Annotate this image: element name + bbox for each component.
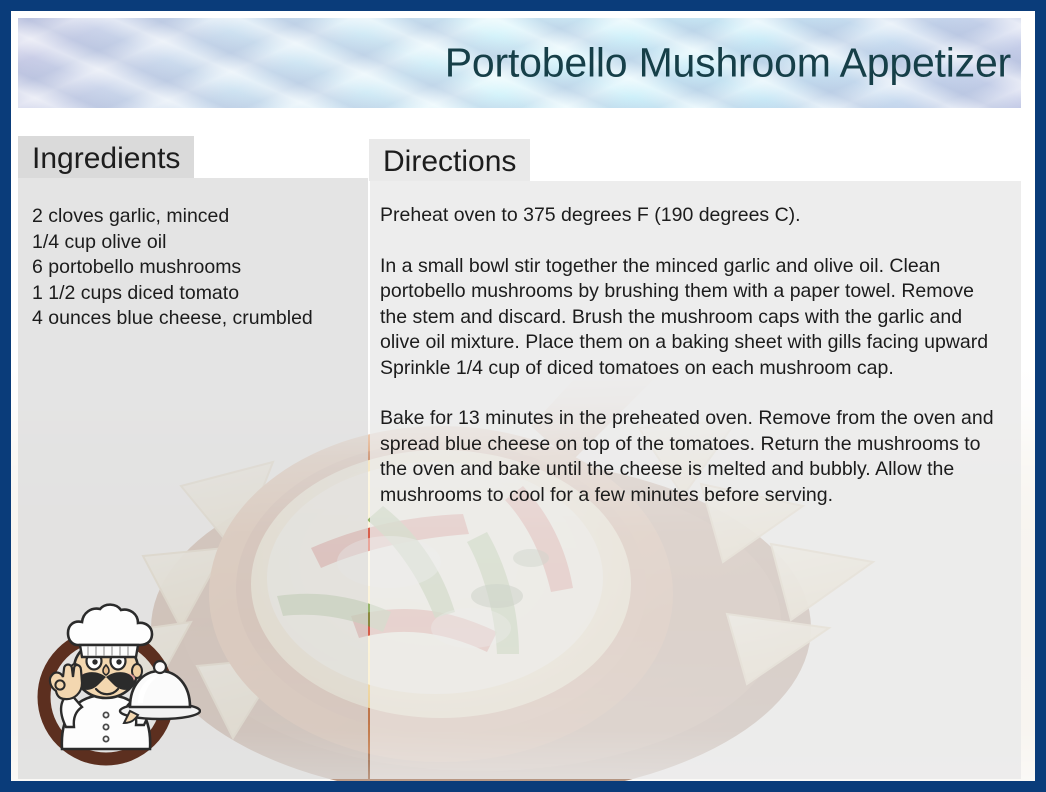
list-item: 1 1/2 cups diced tomato bbox=[32, 281, 354, 307]
direction-step: Bake for 13 minutes in the preheated ove… bbox=[380, 406, 1003, 508]
direction-step: In a small bowl stir together the minced… bbox=[380, 254, 1003, 382]
tab-ingredients[interactable]: Ingredients bbox=[18, 136, 194, 178]
title-banner: Portobello Mushroom Appetizer bbox=[18, 18, 1021, 108]
list-item: 4 ounces blue cheese, crumbled bbox=[32, 306, 354, 332]
page-title: Portobello Mushroom Appetizer bbox=[445, 41, 1011, 84]
tab-directions[interactable]: Directions bbox=[369, 139, 530, 181]
list-item: 2 cloves garlic, minced bbox=[32, 204, 354, 230]
page-surface: Portobello Mushroom Appetizer Ingredient… bbox=[11, 11, 1035, 781]
list-item: 6 portobello mushrooms bbox=[32, 255, 354, 281]
direction-step: Preheat oven to 375 degrees F (190 degre… bbox=[380, 203, 1003, 229]
list-item: 1/4 cup olive oil bbox=[32, 230, 354, 256]
chef-with-cloche-icon bbox=[26, 599, 201, 771]
ingredients-list: 2 cloves garlic, minced 1/4 cup olive oi… bbox=[32, 204, 354, 332]
chef-mascot-logo bbox=[26, 599, 201, 771]
directions-panel: Preheat oven to 375 degrees F (190 degre… bbox=[370, 181, 1021, 779]
recipe-card: Portobello Mushroom Appetizer Ingredient… bbox=[0, 0, 1046, 792]
